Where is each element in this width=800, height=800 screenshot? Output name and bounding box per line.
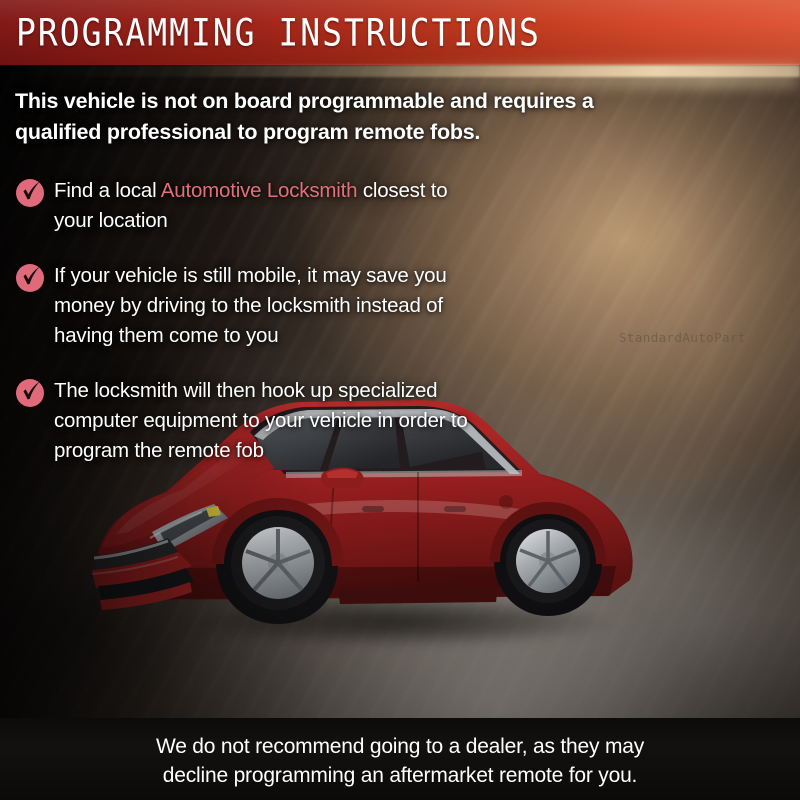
watermark-standardautopart: StandardAutoPart [619, 330, 746, 345]
list-item-text: Find a local Automotive Locksmith closes… [54, 176, 485, 236]
list-item-text: If your vehicle is still mobile, it may … [54, 261, 485, 351]
headline: This vehicle is not on board programmabl… [15, 86, 715, 148]
check-circle-icon [15, 178, 45, 208]
highlight-automotive-locksmith: Automotive Locksmith [161, 179, 358, 202]
list-item: If your vehicle is still mobile, it may … [15, 261, 485, 351]
check-circle-icon [15, 263, 45, 293]
page-title: PROGRAMMING INSTRUCTIONS [16, 11, 541, 55]
check-circle-icon [15, 378, 45, 408]
programming-instructions-graphic: StandardAutoPart PROGRAMMING INSTRUCTION… [0, 0, 800, 800]
list-item-text: The locksmith will then hook up speciali… [54, 376, 485, 466]
list-item: Find a local Automotive Locksmith closes… [15, 176, 485, 236]
headline-line-1: This vehicle is not on board programmabl… [15, 86, 715, 117]
footer-banner: We do not recommend going to a dealer, a… [0, 718, 800, 800]
header-banner: PROGRAMMING INSTRUCTIONS [0, 0, 800, 65]
footer-line-2: decline programming an aftermarket remot… [0, 761, 800, 790]
list-item: The locksmith will then hook up speciali… [15, 376, 485, 466]
footer-line-1: We do not recommend going to a dealer, a… [0, 732, 800, 761]
instruction-list: Find a local Automotive Locksmith closes… [15, 176, 485, 466]
list-item-text-before: Find a local [54, 179, 161, 202]
footer-text: We do not recommend going to a dealer, a… [0, 732, 800, 790]
headline-line-2: qualified professional to program remote… [15, 117, 715, 148]
